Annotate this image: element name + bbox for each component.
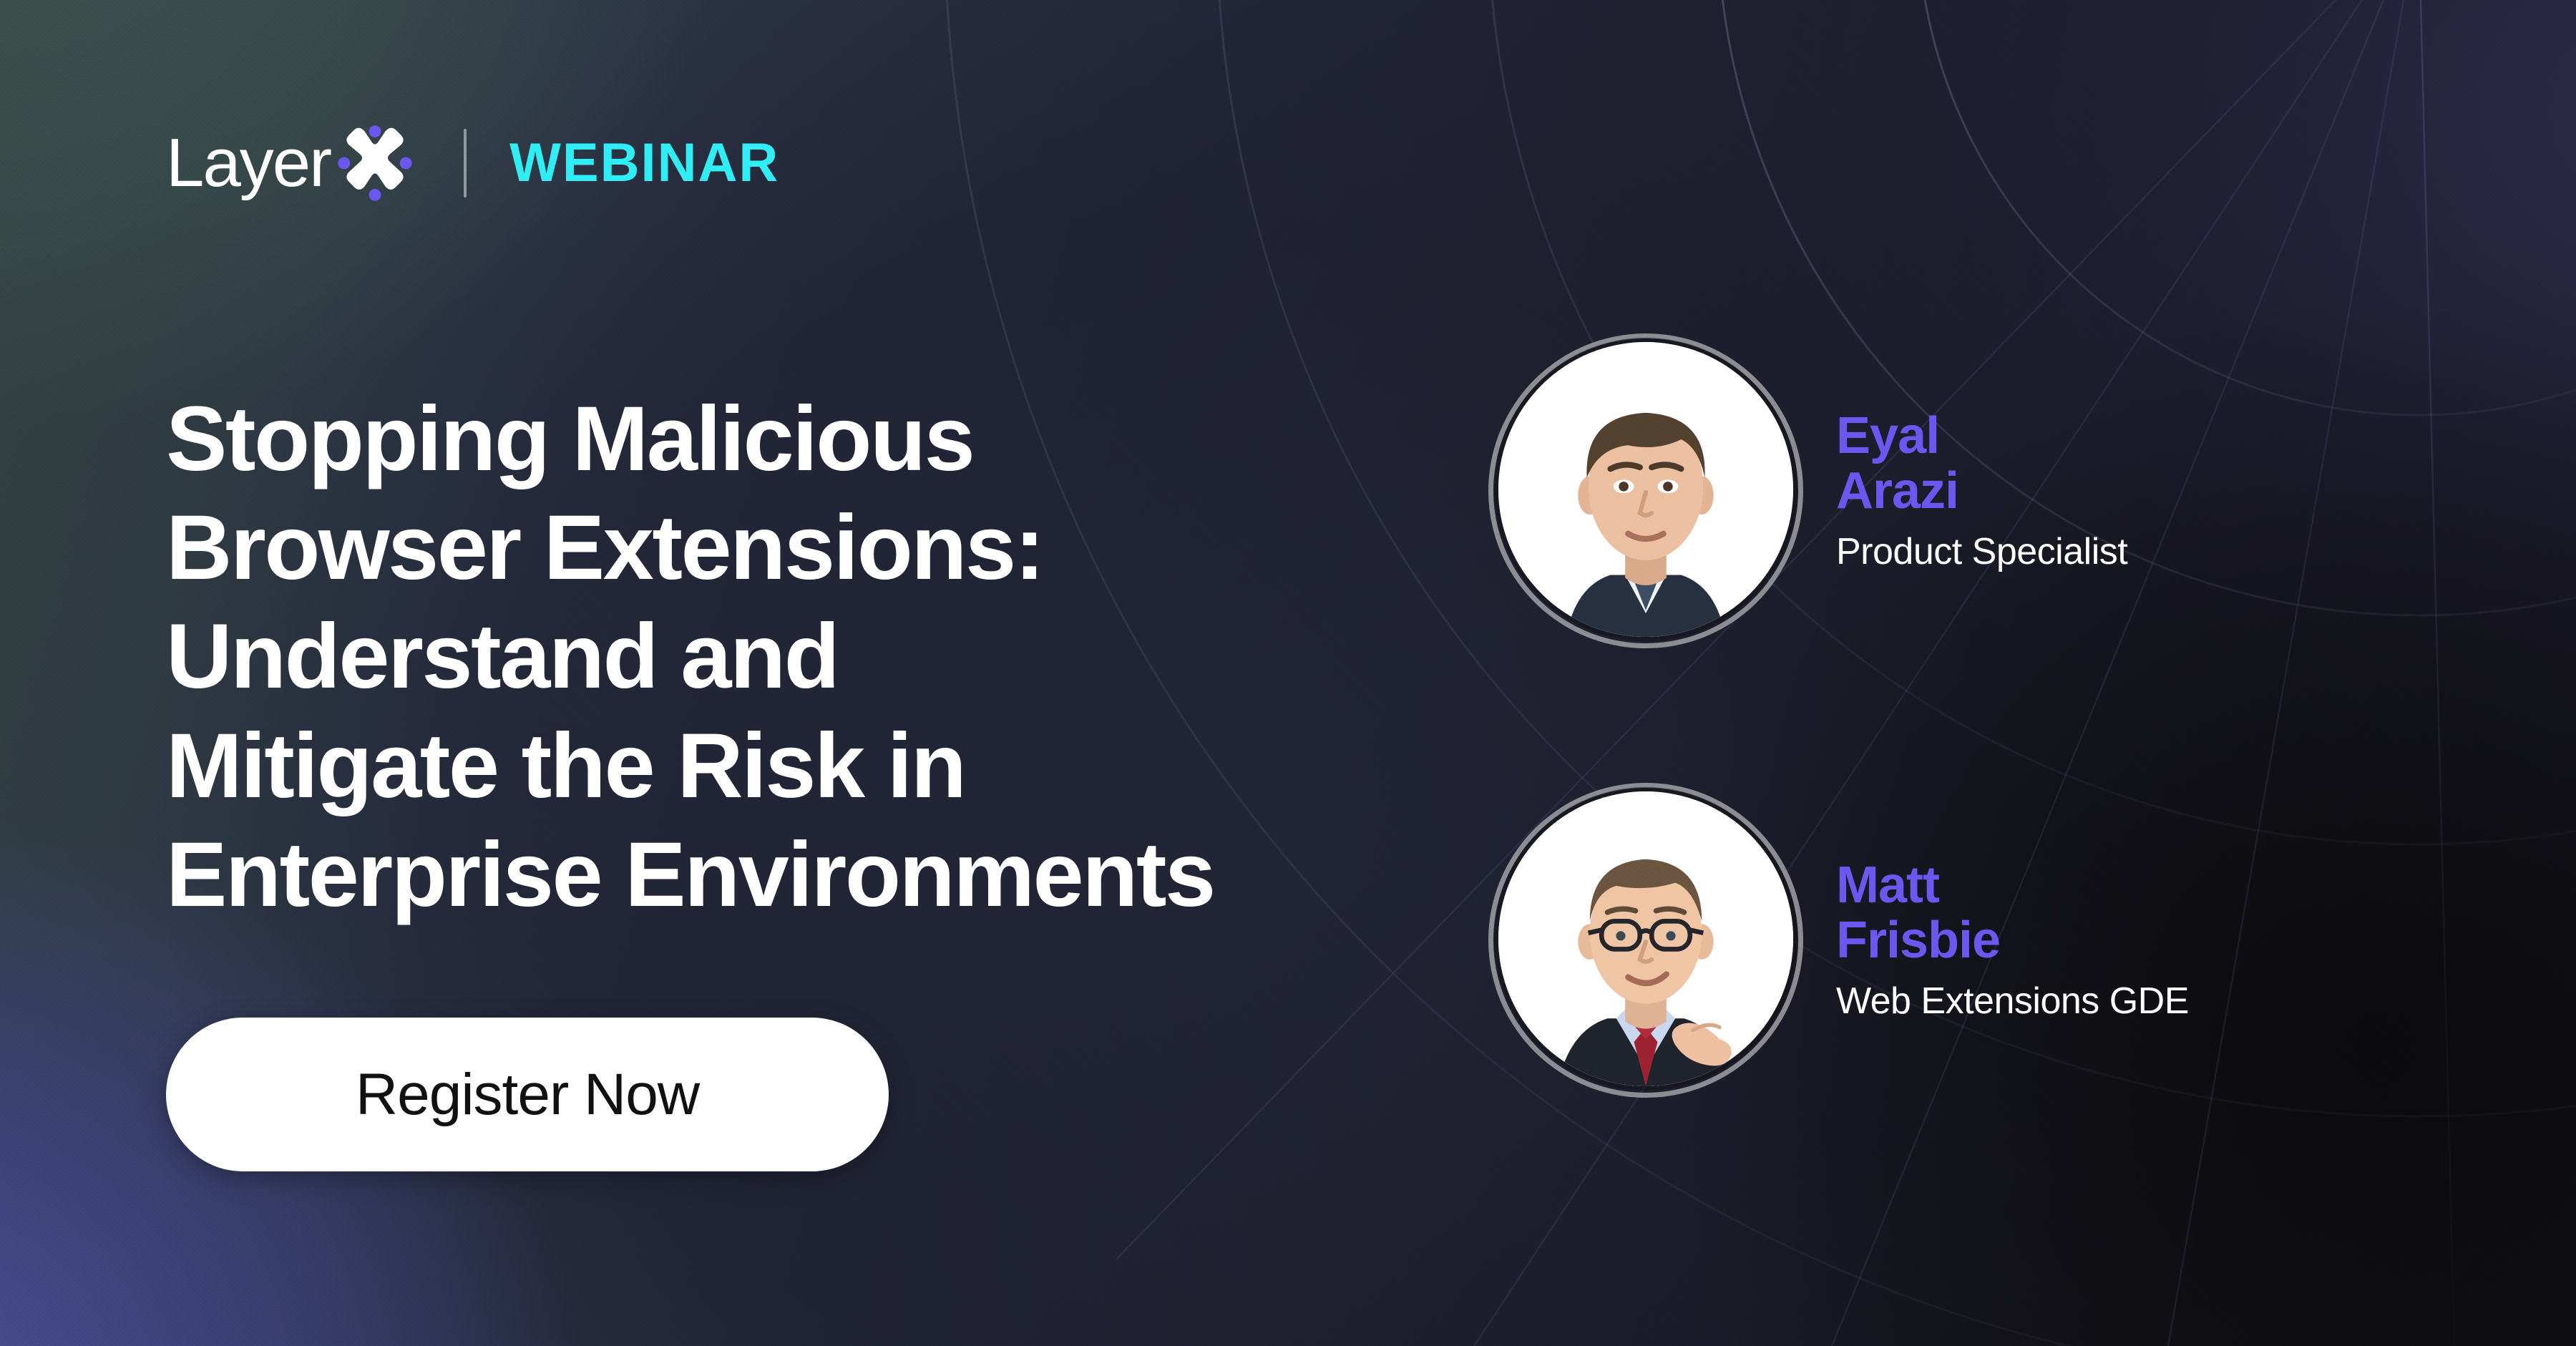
headline-line-5: Enterprise Environments <box>166 821 1497 930</box>
layerx-logo[interactable]: Layer <box>166 120 418 206</box>
avatar <box>1488 783 1803 1098</box>
banner-header: Layer WEBINAR <box>166 120 779 206</box>
layerx-x-mark-icon <box>332 120 418 206</box>
headline-line-1: Stopping Malicious <box>166 385 1497 494</box>
register-now-label: Register Now <box>356 1061 699 1128</box>
speaker-name: Matt Frisbie <box>1836 858 2189 968</box>
speaker-role: Product Specialist <box>1836 532 2127 572</box>
speaker-role: Web Extensions GDE <box>1836 981 2189 1022</box>
speaker-details: Matt Frisbie Web Extensions GDE <box>1836 858 2189 1022</box>
register-now-button[interactable]: Register Now <box>166 1018 889 1171</box>
headline-line-2: Browser Extensions: <box>166 494 1497 603</box>
webinar-promo-banner: Layer WEBINAR Stopping Malicious Browser… <box>0 0 2576 1346</box>
speaker-card: Eyal Arazi Product Specialist <box>1488 333 2189 648</box>
logo-wordmark: Layer <box>166 129 331 197</box>
headline-line-3: Understand and <box>166 603 1497 711</box>
header-divider <box>464 129 467 197</box>
speaker-name: Eyal Arazi <box>1836 409 2127 519</box>
eyebrow-label: WEBINAR <box>509 136 779 190</box>
matt-frisbie-headshot <box>1498 791 1793 1086</box>
page-title: Stopping Malicious Browser Extensions: U… <box>166 385 1497 930</box>
speaker-details: Eyal Arazi Product Specialist <box>1836 409 2127 572</box>
eyal-arazi-headshot <box>1498 342 1793 637</box>
speaker-list: Eyal Arazi Product Specialist <box>1488 333 2189 1098</box>
headline-line-4: Mitigate the Risk in <box>166 712 1497 821</box>
speaker-card: Matt Frisbie Web Extensions GDE <box>1488 783 2189 1098</box>
avatar <box>1488 333 1803 648</box>
